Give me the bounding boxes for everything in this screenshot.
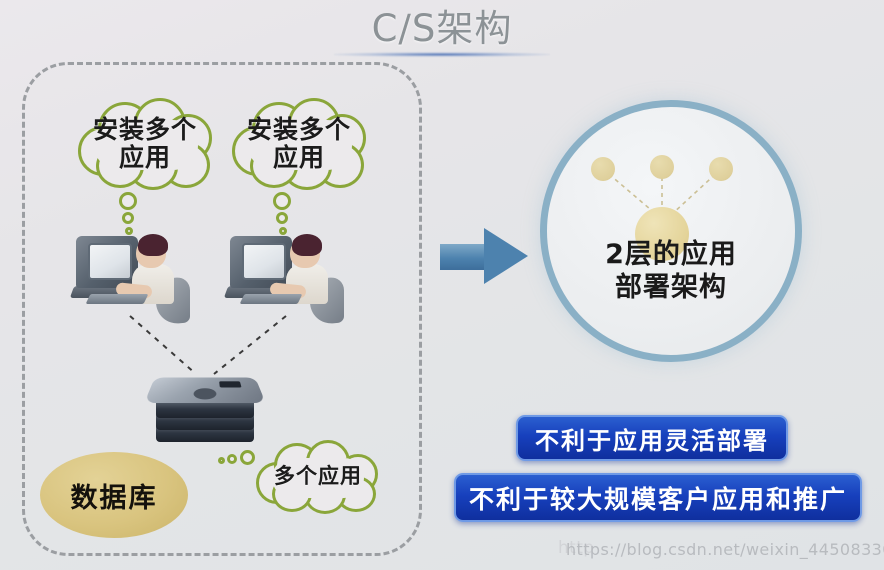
server-top-face bbox=[144, 377, 266, 402]
workstation-user-2 bbox=[224, 228, 350, 324]
server-stack-icon bbox=[150, 372, 260, 446]
circle-node-top-3 bbox=[709, 157, 733, 181]
watermark-url: https://blog.csdn.net/weixin_44508330 bbox=[566, 540, 884, 559]
cloud-label: 安装多个 应用 bbox=[230, 98, 368, 190]
architecture-circle: 2层的应用 部署架构 bbox=[540, 100, 802, 362]
database-node: 数据库 bbox=[40, 452, 188, 538]
person-hair bbox=[138, 234, 168, 256]
thought-bubble-mid-3 bbox=[227, 454, 237, 464]
keyboard-icon bbox=[240, 294, 303, 304]
flow-arrow-right-icon bbox=[440, 228, 532, 284]
thought-bubble-large-1 bbox=[119, 192, 137, 210]
drawback-banner-1: 不利于应用灵活部署 bbox=[516, 415, 788, 461]
thought-cloud-install-apps-1: 安装多个 应用 bbox=[76, 98, 214, 190]
thought-bubble-mid-1 bbox=[122, 212, 134, 224]
circle-caption: 2层的应用 部署架构 bbox=[547, 239, 795, 305]
keyboard-icon bbox=[86, 294, 149, 304]
cloud-label: 安装多个 应用 bbox=[76, 98, 214, 190]
workstation-user-1 bbox=[70, 228, 196, 324]
thought-cloud-multi-apps: 多个应用 bbox=[256, 440, 380, 514]
circle-node-top-2 bbox=[650, 155, 674, 179]
thought-bubble-small-3 bbox=[218, 457, 225, 464]
arrow-head bbox=[484, 228, 528, 284]
person-hair bbox=[292, 234, 322, 256]
title-underline bbox=[334, 52, 550, 57]
database-label: 数据库 bbox=[71, 476, 158, 515]
drawback-banner-2: 不利于较大规模客户应用和推广 bbox=[454, 473, 862, 522]
monitor-screen bbox=[88, 243, 132, 280]
banner-label: 不利于应用灵活部署 bbox=[535, 421, 769, 456]
banner-label: 不利于较大规模客户应用和推广 bbox=[469, 480, 847, 516]
server-slot bbox=[219, 381, 241, 387]
thought-cloud-install-apps-2: 安装多个 应用 bbox=[230, 98, 368, 190]
thought-bubble-large-2 bbox=[273, 192, 291, 210]
server-knob bbox=[193, 388, 217, 399]
circle-node-top-1 bbox=[591, 157, 615, 181]
thought-bubble-mid-2 bbox=[276, 212, 288, 224]
slide-canvas: C/S架构 安装多个 应用 安装多个 应用 bbox=[0, 0, 884, 570]
thought-bubble-large-3 bbox=[240, 450, 255, 465]
page-title: C/S架构 bbox=[0, 0, 884, 52]
cloud-label: 多个应用 bbox=[256, 440, 380, 514]
monitor-screen bbox=[242, 243, 286, 280]
